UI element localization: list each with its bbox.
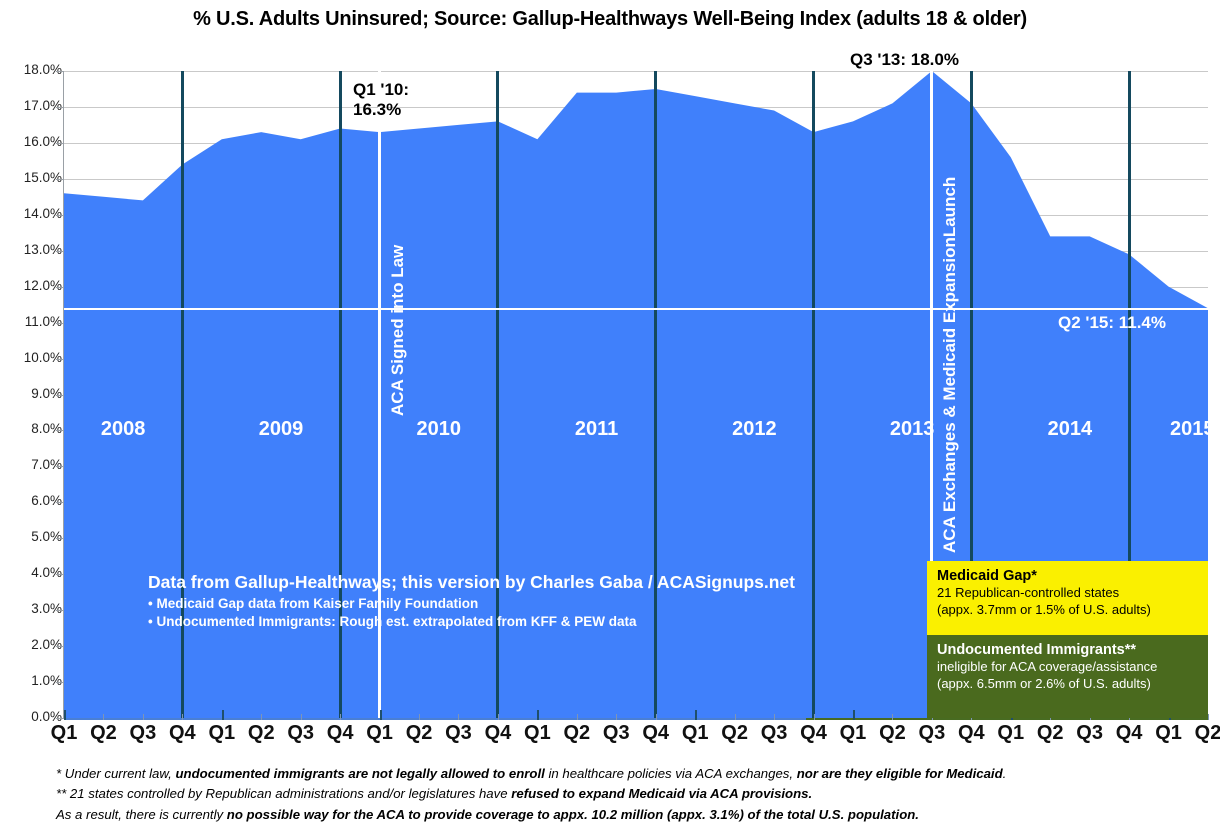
legend-medicaid-gap-line2: (appx. 3.7mm or 1.5% of U.S. adults) bbox=[937, 602, 1208, 619]
footnote-3: As a result, there is currently no possi… bbox=[56, 805, 1220, 825]
callout-q3-2013: Q3 '13: 18.0% bbox=[850, 50, 959, 70]
footnote-2-a: ** 21 states controlled by Republican ad… bbox=[56, 786, 511, 801]
x-axis-tick-mark bbox=[182, 714, 183, 720]
x-axis-tick-label: Q1 bbox=[1149, 722, 1189, 745]
x-axis-tick-label: Q4 bbox=[951, 722, 991, 745]
x-axis-tick-label: Q4 bbox=[1109, 722, 1149, 745]
y-axis-tick-label: 1.0% bbox=[2, 673, 62, 688]
footnote-1-e: . bbox=[1003, 766, 1007, 781]
x-axis-tick-label: Q2 bbox=[872, 722, 912, 745]
y-axis-tick-label: 10.0% bbox=[2, 350, 62, 365]
y-axis-tick-label: 6.0% bbox=[2, 493, 62, 508]
x-axis-tick-label: Q3 bbox=[281, 722, 321, 745]
x-axis-tick-label: Q3 bbox=[912, 722, 952, 745]
x-axis-tick-mark bbox=[577, 714, 578, 720]
attribution-block: Data from Gallup-Healthways; this versio… bbox=[148, 572, 795, 629]
legend-medicaid-gap-title: Medicaid Gap* bbox=[937, 567, 1208, 585]
x-axis-tick-mark bbox=[735, 714, 736, 720]
footnote-2-b: refused to expand Medicaid via ACA provi… bbox=[511, 786, 812, 801]
y-axis-tick-label: 18.0% bbox=[2, 62, 62, 77]
y-axis-tick-label: 9.0% bbox=[2, 386, 62, 401]
x-axis-tick-label: Q2 bbox=[83, 722, 123, 745]
y-axis-tick-label: 2.0% bbox=[2, 637, 62, 652]
x-axis-tick-mark bbox=[103, 714, 104, 720]
callout-q1-2010-line2: 16.3% bbox=[353, 100, 409, 120]
x-axis-tick-mark bbox=[656, 714, 657, 720]
x-axis-tick-label: Q4 bbox=[478, 722, 518, 745]
x-axis-tick-label: Q3 bbox=[596, 722, 636, 745]
x-axis-tick-mark bbox=[143, 714, 144, 720]
x-axis-tick-mark bbox=[261, 714, 262, 720]
legend-undocumented-title: Undocumented Immigrants** bbox=[937, 641, 1208, 659]
y-axis-tick-label: 14.0% bbox=[2, 206, 62, 221]
x-axis-tick-mark bbox=[458, 714, 459, 720]
attribution-line-3: • Undocumented Immigrants: Rough est. ex… bbox=[148, 614, 795, 629]
y-axis-tick-label: 3.0% bbox=[2, 601, 62, 616]
attribution-line-1: Data from Gallup-Healthways; this versio… bbox=[148, 572, 795, 593]
footnote-1: * Under current law, undocumented immigr… bbox=[56, 764, 1220, 784]
y-axis-tick-label: 11.0% bbox=[2, 314, 62, 329]
x-axis-tick-mark bbox=[695, 710, 697, 720]
x-axis-tick-mark bbox=[301, 714, 302, 720]
year-band-label: 2012 bbox=[714, 418, 794, 441]
year-band-label: 2009 bbox=[241, 418, 321, 441]
x-axis-tick-mark bbox=[774, 714, 775, 720]
footnote-1-b: undocumented immigrants are not legally … bbox=[175, 766, 544, 781]
footnote-2: ** 21 states controlled by Republican ad… bbox=[56, 784, 1220, 804]
x-axis-tick-mark bbox=[616, 714, 617, 720]
legend-medicaid-gap: Medicaid Gap* 21 Republican-controlled s… bbox=[927, 561, 1208, 635]
aca-signed-into-law-label: ACA Signed into Law bbox=[388, 245, 408, 416]
aca-exchanges-launch-label: ACA Exchanges & Medicaid ExpansionLaunch bbox=[940, 176, 960, 552]
y-axis-tick-label: 13.0% bbox=[2, 242, 62, 257]
legend-medicaid-gap-line1: 21 Republican-controlled states bbox=[937, 585, 1208, 602]
callout-q2-2015: Q2 '15: 11.4% bbox=[1058, 313, 1166, 333]
footnote-3-b: no possible way for the ACA to provide c… bbox=[227, 807, 919, 822]
legend-undocumented-line2: (appx. 6.5mm or 2.6% of U.S. adults) bbox=[937, 676, 1208, 693]
x-axis-tick-label: Q2 bbox=[241, 722, 281, 745]
x-axis-tick-mark bbox=[892, 714, 893, 720]
y-axis-tick-label: 15.0% bbox=[2, 170, 62, 185]
chart-page: % U.S. Adults Uninsured; Source: Gallup-… bbox=[0, 0, 1220, 830]
callout-q1-2010-line1: Q1 '10: bbox=[353, 80, 409, 100]
y-axis-tick-label: 8.0% bbox=[2, 421, 62, 436]
x-axis-tick-label: Q1 bbox=[517, 722, 557, 745]
x-axis-tick-label: Q3 bbox=[1070, 722, 1110, 745]
footnote-1-a: * Under current law, bbox=[56, 766, 175, 781]
page-title: % U.S. Adults Uninsured; Source: Gallup-… bbox=[0, 8, 1220, 31]
x-axis-tick-label: Q3 bbox=[754, 722, 794, 745]
x-axis-tick-mark bbox=[498, 714, 499, 720]
x-axis-tick-mark bbox=[537, 710, 539, 720]
x-axis-tick-label: Q1 bbox=[675, 722, 715, 745]
x-axis-tick-mark bbox=[380, 710, 382, 720]
x-axis-tick-mark bbox=[222, 710, 224, 720]
legend-undocumented-line1: ineligible for ACA coverage/assistance bbox=[937, 659, 1208, 676]
year-band-label: 2011 bbox=[557, 418, 637, 441]
callout-q1-2010: Q1 '10: 16.3% bbox=[353, 80, 409, 119]
year-band-label: 2014 bbox=[1030, 418, 1110, 441]
x-axis-tick-label: Q3 bbox=[438, 722, 478, 745]
x-axis-tick-label: Q1 bbox=[991, 722, 1031, 745]
x-axis-tick-mark bbox=[1208, 714, 1209, 720]
legend-undocumented-immigrants: Undocumented Immigrants** ineligible for… bbox=[927, 635, 1208, 718]
x-axis-tick-label: Q2 bbox=[399, 722, 439, 745]
year-band-label: 2008 bbox=[83, 418, 163, 441]
footnote-1-c: in healthcare policies via ACA exchanges… bbox=[545, 766, 797, 781]
y-axis-tick-label: 17.0% bbox=[2, 98, 62, 113]
x-axis-tick-label: Q1 bbox=[833, 722, 873, 745]
x-axis-tick-mark bbox=[340, 714, 341, 720]
x-axis-tick-label: Q4 bbox=[162, 722, 202, 745]
x-axis-tick-label: Q1 bbox=[44, 722, 84, 745]
x-axis-tick-label: Q4 bbox=[636, 722, 676, 745]
year-band-label: 2015 bbox=[1152, 418, 1208, 441]
x-axis-tick-label: Q2 bbox=[1030, 722, 1070, 745]
x-axis-tick-label: Q4 bbox=[794, 722, 834, 745]
footnote-1-d: nor are they eligible for Medicaid bbox=[797, 766, 1003, 781]
x-axis-tick-mark bbox=[64, 710, 66, 720]
reference-line-11-4 bbox=[64, 308, 1208, 310]
x-axis-tick-label: Q3 bbox=[123, 722, 163, 745]
x-axis-tick-label: Q1 bbox=[360, 722, 400, 745]
x-axis-tick-mark bbox=[814, 714, 815, 720]
x-axis-line-green-segment bbox=[806, 718, 1209, 720]
footnote-3-a: As a result, there is currently bbox=[56, 807, 227, 822]
x-axis-tick-label: Q2 bbox=[557, 722, 597, 745]
x-axis-tick-label: Q2 bbox=[1188, 722, 1220, 745]
y-axis-tick-label: 16.0% bbox=[2, 134, 62, 149]
attribution-line-2: • Medicaid Gap data from Kaiser Family F… bbox=[148, 596, 795, 611]
year-band-label: 2010 bbox=[399, 418, 479, 441]
x-axis-tick-mark bbox=[419, 714, 420, 720]
year-divider-line bbox=[812, 71, 815, 718]
x-axis-tick-label: Q2 bbox=[715, 722, 755, 745]
y-axis-tick-label: 4.0% bbox=[2, 565, 62, 580]
y-axis-tick-label: 7.0% bbox=[2, 457, 62, 472]
x-axis-tick-mark bbox=[853, 710, 855, 720]
x-axis-tick-label: Q1 bbox=[202, 722, 242, 745]
y-axis-tick-label: 5.0% bbox=[2, 529, 62, 544]
x-axis-tick-label: Q4 bbox=[320, 722, 360, 745]
footnotes: * Under current law, undocumented immigr… bbox=[56, 764, 1220, 825]
y-axis-tick-label: 12.0% bbox=[2, 278, 62, 293]
